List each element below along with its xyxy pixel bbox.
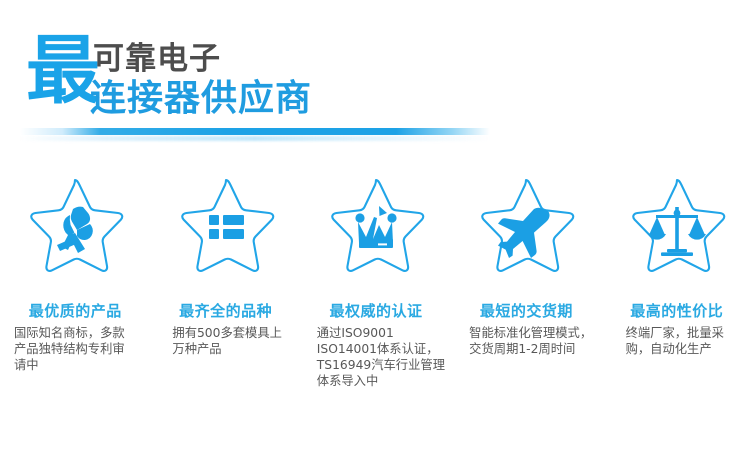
feature-description: 终端厂家，批量采购，自动化生产: [602, 325, 752, 357]
grid-list-icon: [172, 175, 280, 283]
feature-item-variety: 最齐全的品种 拥有500多套模具上万种产品: [150, 168, 300, 408]
feature-title: 最权威的认证: [301, 302, 451, 320]
star-frame-quality: [0, 168, 150, 290]
headline-big-character: 最: [26, 34, 98, 108]
feature-description: 国际知名商标，多款产品独特结构专利审请中: [0, 325, 150, 373]
headline-divider: [20, 128, 490, 135]
satellite-dish-icon: [21, 175, 129, 283]
headline-line-2: 连接器供应商: [90, 80, 312, 118]
feature-title: 最高的性价比: [602, 302, 752, 320]
feature-item-value: 最高的性价比 终端厂家，批量采购，自动化生产: [602, 168, 752, 408]
airplane-icon: [472, 175, 580, 283]
feature-description: 智能标准化管理模式，交货周期1-2周时间: [451, 325, 601, 357]
headline-divider-glow: [20, 136, 490, 141]
feature-item-quality: 最优质的产品 国际知名商标，多款产品独特结构专利审请中: [0, 168, 150, 408]
star-frame-delivery: [451, 168, 601, 290]
feature-title: 最优质的产品: [0, 302, 150, 320]
balance-scale-icon: [623, 175, 731, 283]
star-frame-certification: [301, 168, 451, 290]
star-frame-variety: [150, 168, 300, 290]
feature-description: 通过ISO9001 ISO14001体系认证，TS16949汽车行业管理体系导入…: [301, 325, 451, 389]
crown-icon: [322, 175, 430, 283]
feature-title: 最齐全的品种: [150, 302, 300, 320]
headline-line-1: 可靠电子: [93, 42, 221, 76]
feature-description: 拥有500多套模具上万种产品: [150, 325, 300, 357]
headline-banner: 最 可靠电子 连接器供应商: [0, 0, 752, 150]
feature-item-delivery: 最短的交货期 智能标准化管理模式，交货周期1-2周时间: [451, 168, 601, 408]
feature-title: 最短的交货期: [451, 302, 601, 320]
star-frame-value: [602, 168, 752, 290]
feature-item-certification: 最权威的认证 通过ISO9001 ISO14001体系认证，TS16949汽车行…: [301, 168, 451, 408]
feature-list: 最优质的产品 国际知名商标，多款产品独特结构专利审请中 最齐全的品种 拥有500…: [0, 168, 752, 408]
